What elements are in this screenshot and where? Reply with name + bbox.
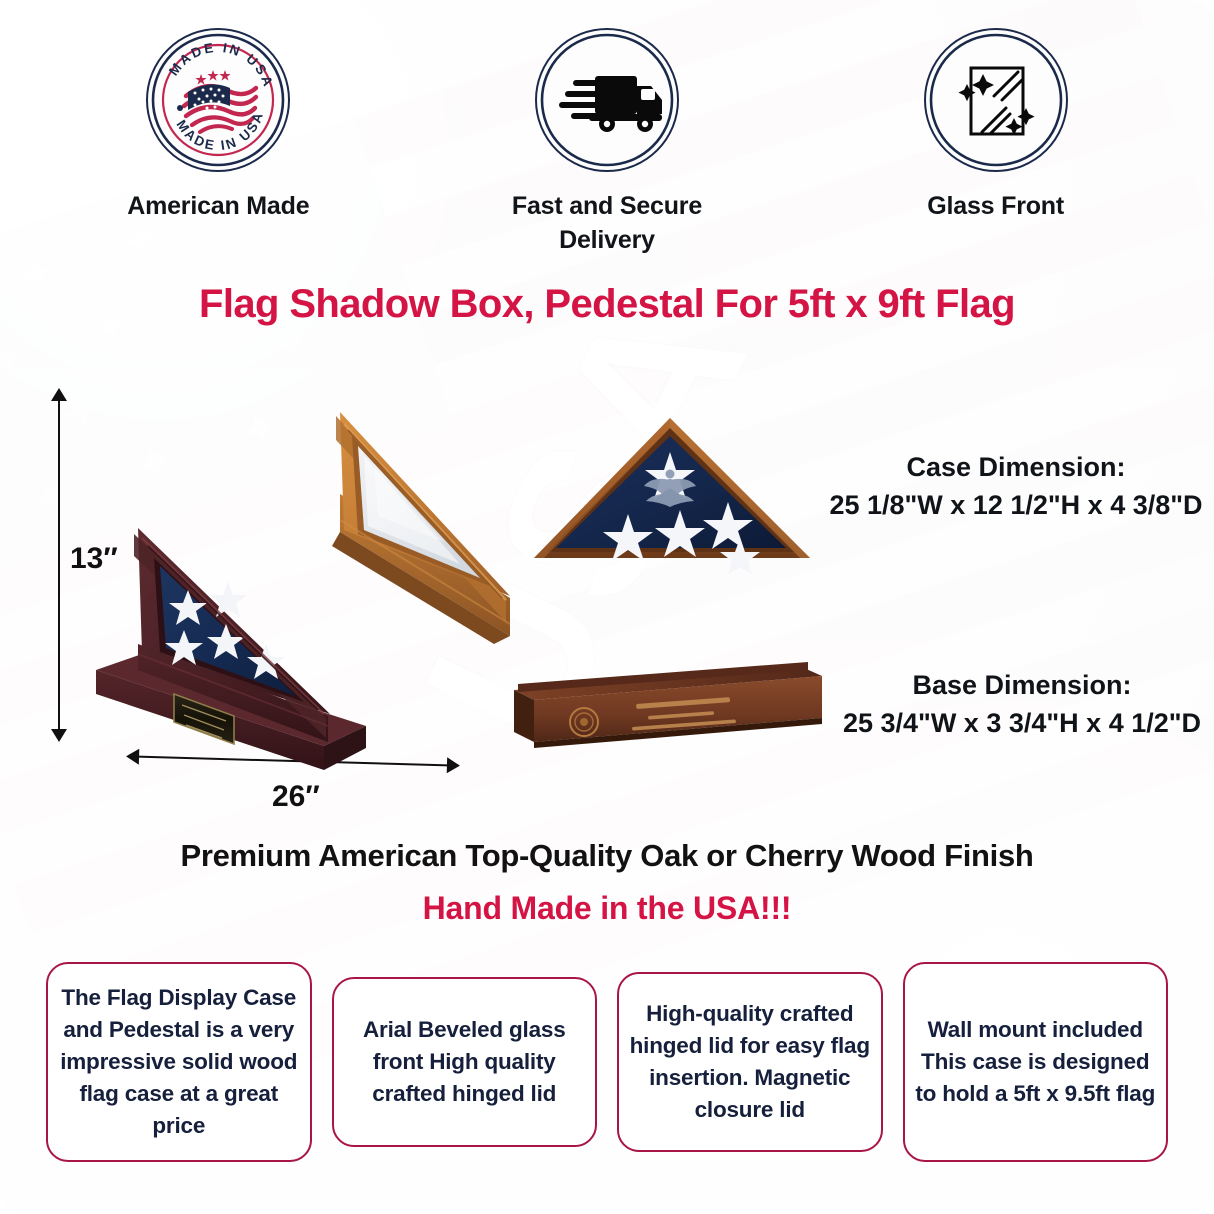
feature-card: Arial Beveled glass front High quality c…	[332, 977, 598, 1147]
base-dimension-callout: Base Dimension: 25 3/4"W x 3 3/4"H x 4 1…	[822, 666, 1214, 743]
page-title: Flag Shadow Box, Pedestal For 5ft x 9ft …	[0, 282, 1214, 327]
badge-label-american-made: American Made	[127, 190, 309, 224]
case-dimension-heading: Case Dimension:	[816, 448, 1214, 486]
base-dimension-heading: Base Dimension:	[822, 666, 1214, 704]
feature-card: The Flag Display Case and Pedestal is a …	[46, 962, 312, 1162]
badge-fast-delivery: Fast and Secure Delivery	[457, 28, 757, 257]
feature-card: High-quality crafted hinged lid for easy…	[617, 972, 883, 1152]
badge-label-glass-front: Glass Front	[927, 190, 1064, 224]
product-image-front-flag-case	[528, 410, 828, 590]
feature-card-row: The Flag Display Case and Pedestal is a …	[0, 962, 1214, 1162]
badge-glass-front: Glass Front	[846, 28, 1146, 224]
fast-delivery-truck-icon	[535, 28, 679, 172]
premium-finish-line: Premium American Top-Quality Oak or Cher…	[0, 838, 1214, 874]
badge-label-fast-delivery: Fast and Secure Delivery	[512, 190, 702, 257]
infographic-page: ✦ ✦ ✦ ✦ ✦ ✦ ✦ ✦ ✦ ✦ ✦ ✦ ✦ ✦ USA	[0, 0, 1214, 1214]
handmade-usa-line: Hand Made in the USA!!!	[0, 890, 1214, 927]
feature-badges: MADE IN USA MADE IN USA American Made	[0, 28, 1214, 257]
height-dimension-arrow	[58, 400, 60, 730]
product-stage: 13″ 26″	[0, 382, 1214, 812]
badge-american-made: MADE IN USA MADE IN USA American Made	[68, 28, 368, 224]
width-dimension-label: 26″	[272, 780, 320, 814]
feature-card: Wall mount included This case is designe…	[903, 962, 1169, 1162]
case-dimension-value: 25 1/8"W x 12 1/2"H x 4 3/8"D	[816, 486, 1214, 524]
case-dimension-callout: Case Dimension: 25 1/8"W x 12 1/2"H x 4 …	[816, 448, 1214, 525]
product-image-engraved-pedestal-base	[508, 654, 828, 764]
base-dimension-value: 25 3/4"W x 3 3/4"H x 4 1/2"D	[822, 704, 1214, 742]
made-in-usa-seal-icon: MADE IN USA MADE IN USA	[146, 28, 290, 172]
product-image-cherry-flag-case	[78, 494, 408, 774]
glass-pane-sparkle-icon	[924, 28, 1068, 172]
